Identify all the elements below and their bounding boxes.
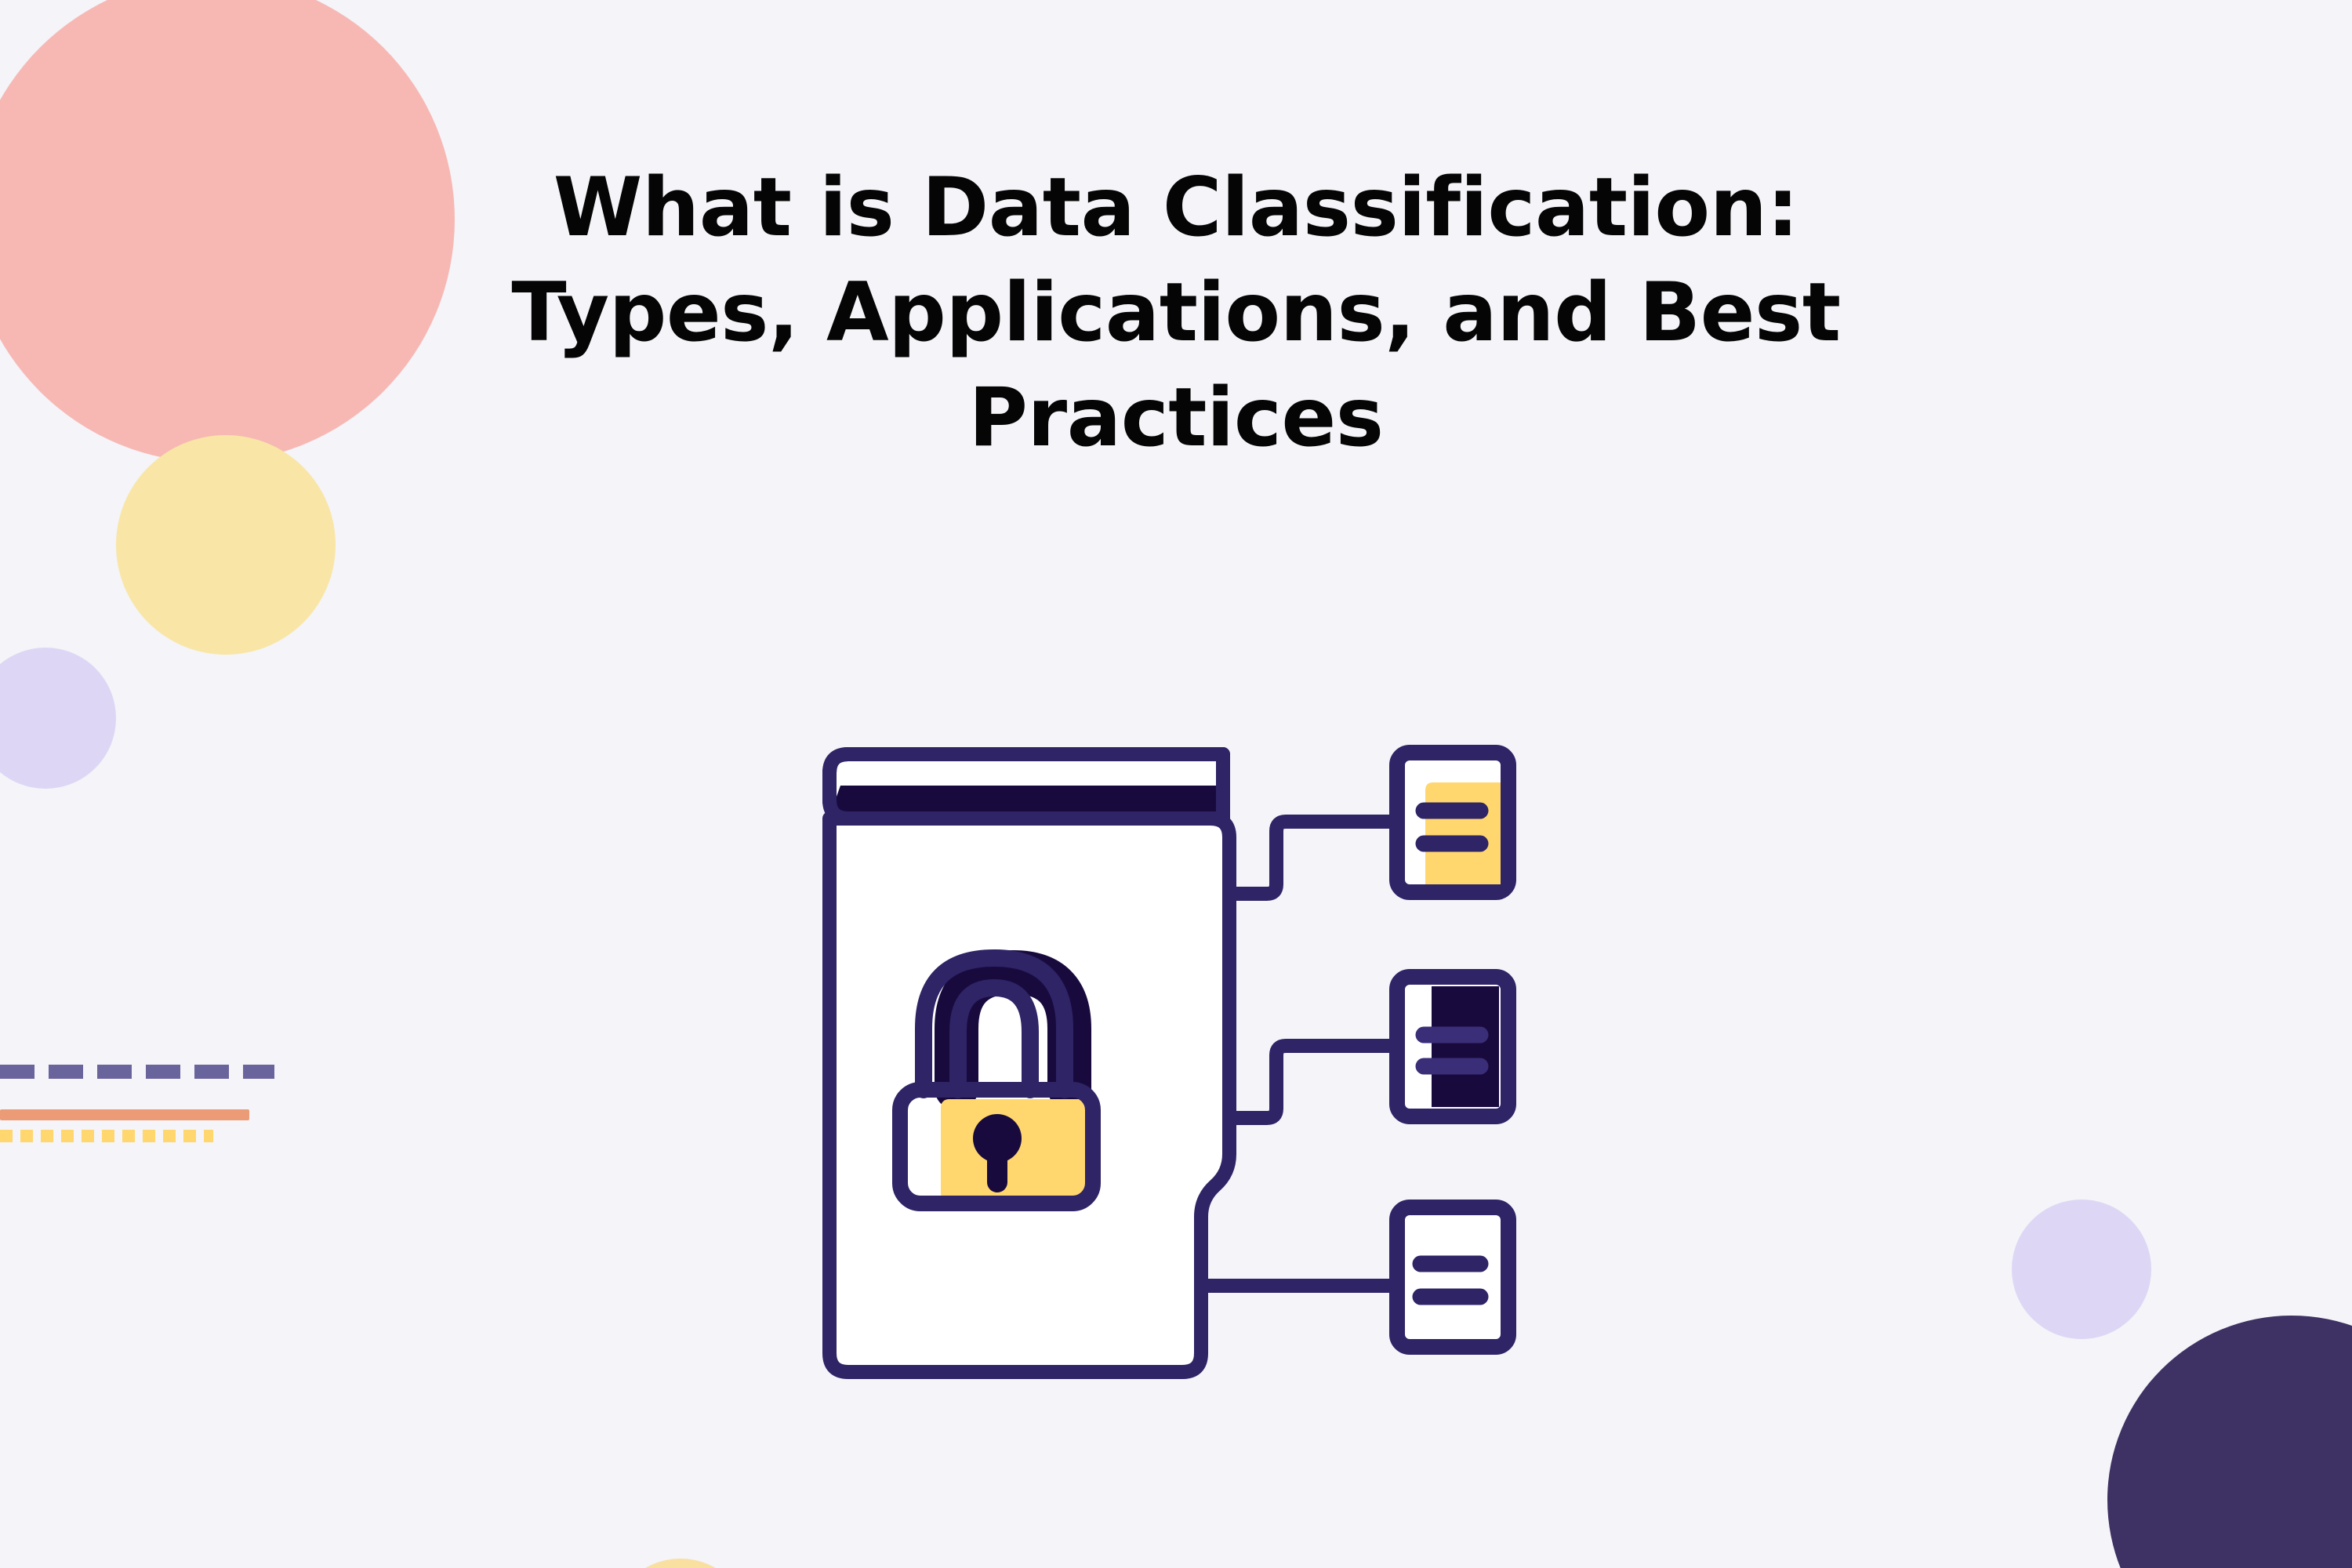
yellow-circle bbox=[116, 435, 336, 655]
dotted-rule bbox=[0, 1130, 213, 1142]
dashed-rule bbox=[0, 1065, 274, 1079]
classified-document-dark bbox=[1397, 977, 1508, 1116]
classified-document-plain bbox=[1397, 1207, 1508, 1347]
data-classification-illustration bbox=[800, 737, 1615, 1411]
yellow-circle-bottom bbox=[610, 1559, 751, 1568]
solid-rule bbox=[0, 1109, 249, 1120]
lavender-circle-left bbox=[0, 648, 116, 789]
connector-line-top bbox=[1226, 822, 1397, 894]
hero-banner: What is Data Classification: Types, Appl… bbox=[0, 0, 2352, 1568]
book-spine bbox=[829, 754, 1223, 818]
classified-document-yellow bbox=[1397, 753, 1508, 892]
page-title: What is Data Classification: Types, Appl… bbox=[337, 156, 2015, 471]
lavender-circle-right bbox=[2012, 1200, 2151, 1339]
dark-purple-circle bbox=[2107, 1316, 2352, 1568]
